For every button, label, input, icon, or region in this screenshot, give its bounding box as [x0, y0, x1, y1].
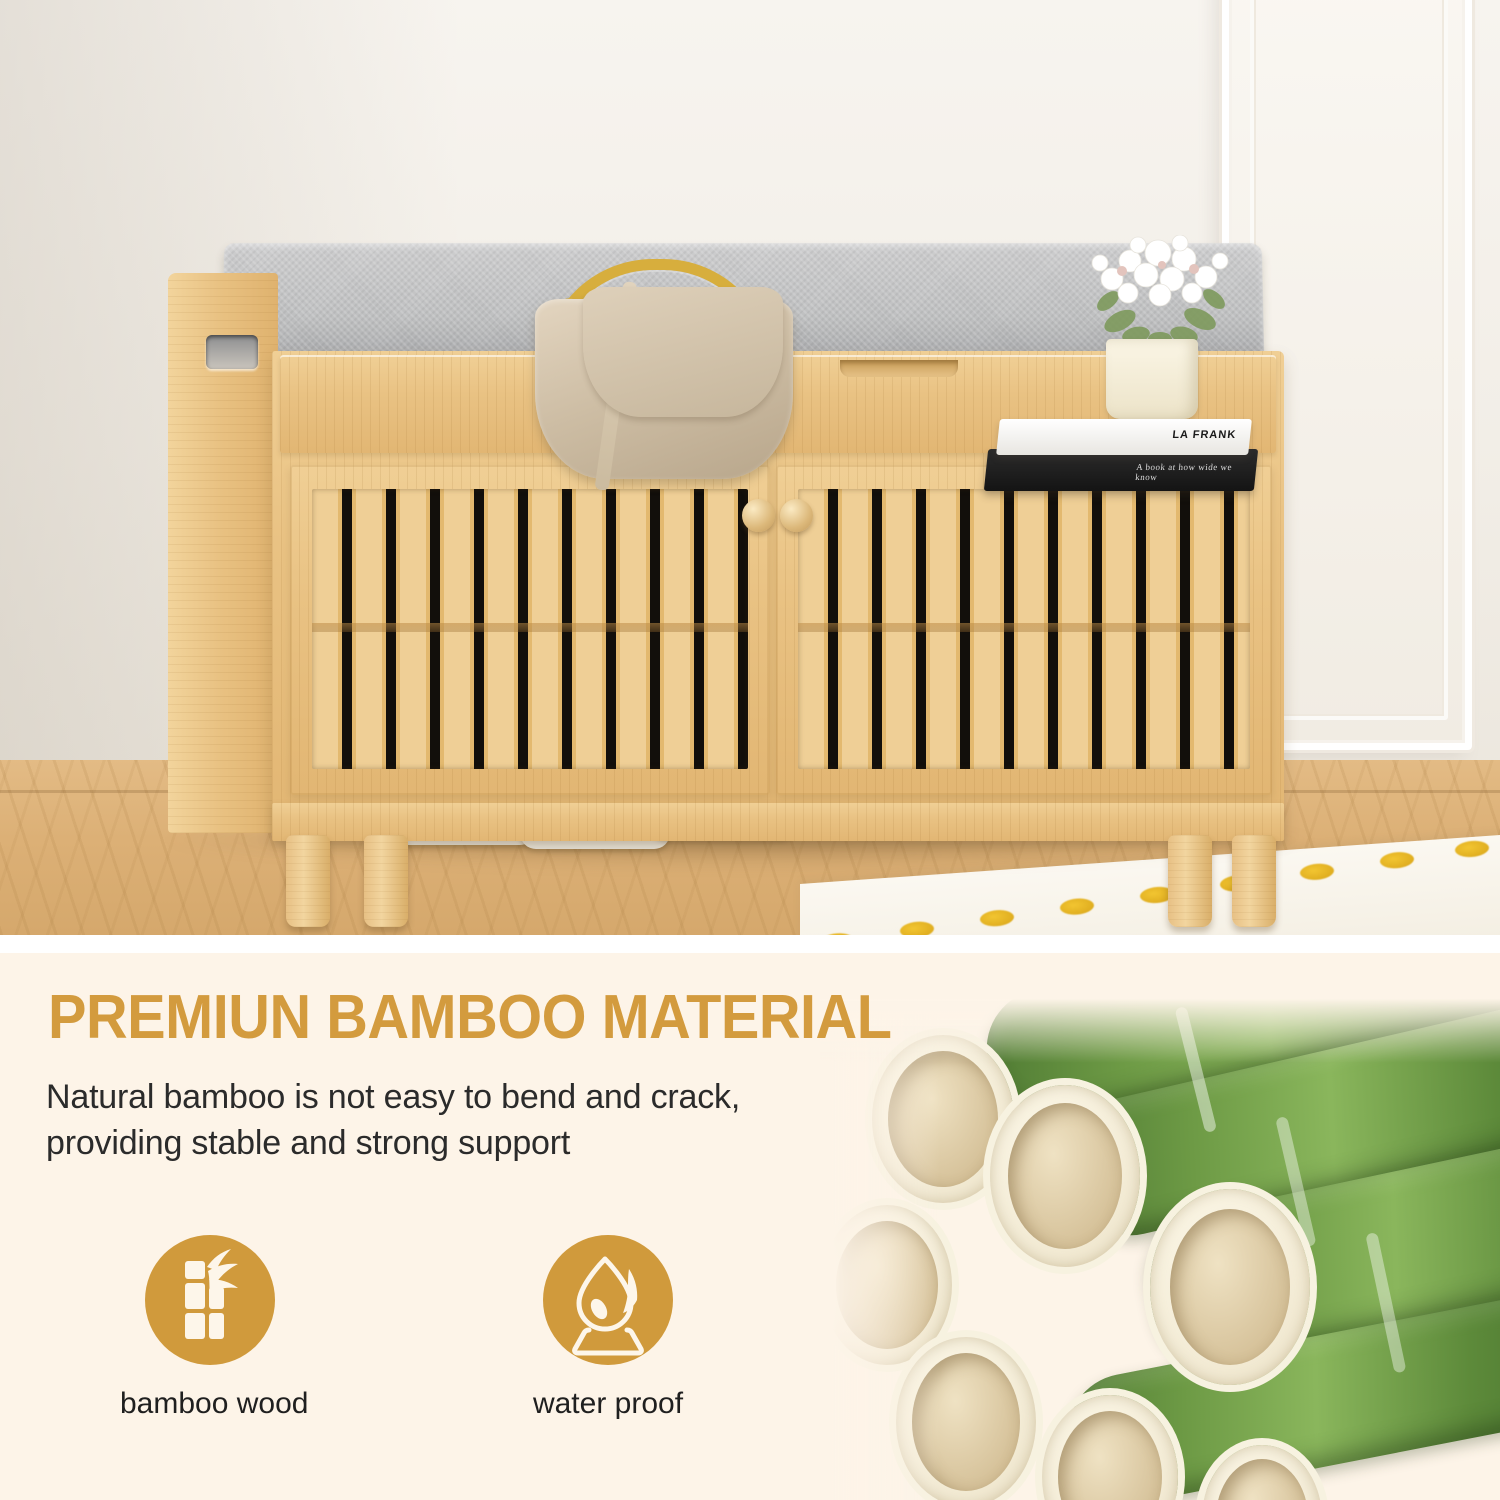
- flower-pot: [1106, 339, 1198, 419]
- books-and-plant-prop: A book at how wide we know LA FRANK: [986, 405, 1286, 497]
- white-book-title: LA FRANK: [1172, 429, 1237, 441]
- feature-badge-list: bamboo wood water proof: [120, 1235, 698, 1421]
- lifestyle-product-photo: A book at how wide we know LA FRANK: [0, 0, 1500, 935]
- bench-leg: [286, 835, 330, 927]
- side-handle-cutout: [206, 335, 258, 369]
- bench-leg: [364, 835, 408, 927]
- white-book: LA FRANK: [996, 419, 1252, 455]
- black-book-title: A book at how wide we know: [1135, 462, 1257, 482]
- cabinet-door-right: [776, 465, 1272, 795]
- bamboo-wood-badge: [145, 1235, 275, 1365]
- flower-arrangement: [1072, 235, 1247, 355]
- subtext-line-2: providing stable and strong support: [46, 1121, 946, 1167]
- feature-label: water proof: [518, 1387, 698, 1421]
- bamboo-stalk-icon: [145, 1235, 275, 1365]
- slat-mid-rail: [798, 623, 1250, 632]
- panel-subtext: Natural bamboo is not easy to bend and c…: [46, 1075, 946, 1167]
- slat-mid-rail: [312, 623, 748, 632]
- cabinet-door-left: [290, 465, 770, 795]
- panel-divider: [0, 935, 1500, 953]
- black-book: A book at how wide we know: [984, 449, 1258, 491]
- handbag-prop: [513, 251, 813, 481]
- feature-water-proof: water proof: [518, 1235, 698, 1421]
- bench-plinth: [272, 803, 1284, 841]
- water-proof-badge: [543, 1235, 673, 1365]
- bamboo-storage-bench: A book at how wide we know LA FRANK: [168, 243, 1298, 863]
- info-panel: PREMIUN BAMBOO MATERIAL Natural bamboo i…: [0, 935, 1500, 1500]
- bamboo-culms-photo: [820, 993, 1500, 1500]
- handbag-flap: [583, 287, 783, 417]
- feature-label: bamboo wood: [120, 1387, 300, 1421]
- cabinet-knob-right: [780, 499, 813, 532]
- bench-leg: [1232, 835, 1276, 927]
- cabinet-knob-left: [742, 499, 775, 532]
- photo-top-fade: [820, 993, 1500, 1063]
- feature-bamboo-wood: bamboo wood: [120, 1235, 300, 1421]
- product-infographic: A book at how wide we know LA FRANK: [0, 0, 1500, 1500]
- panel-headline: PREMIUN BAMBOO MATERIAL: [48, 987, 891, 1049]
- bench-side-panel: [168, 273, 278, 833]
- bench-leg: [1168, 835, 1212, 927]
- subtext-line-1: Natural bamboo is not easy to bend and c…: [46, 1075, 946, 1121]
- drawer-pull-notch: [840, 360, 958, 377]
- photo-left-fade: [820, 993, 940, 1500]
- water-drop-icon: [543, 1235, 673, 1365]
